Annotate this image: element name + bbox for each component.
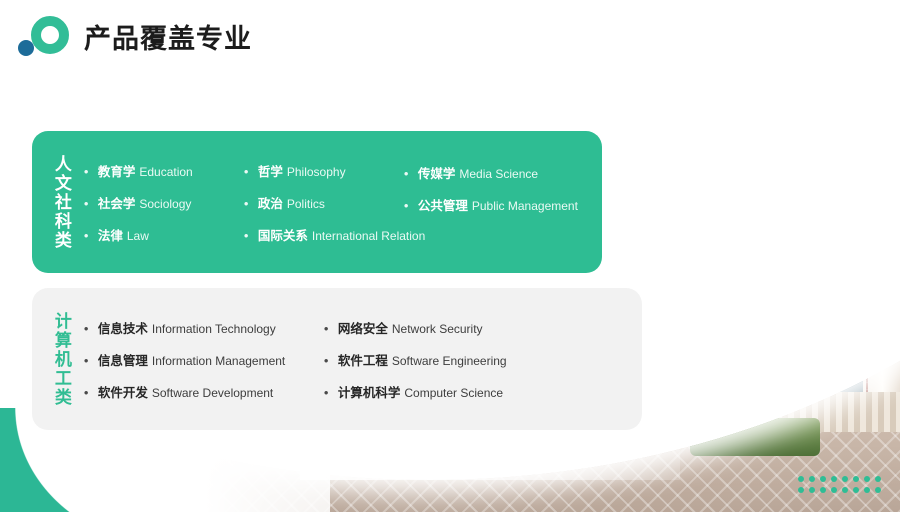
- major-en: Public Management: [472, 199, 578, 213]
- list-item: • 计算机科学 Computer Science: [324, 382, 554, 401]
- major-cn: 网络安全: [338, 318, 388, 337]
- dot: [842, 487, 848, 493]
- major-en: Politics: [287, 197, 325, 211]
- major-en: Media Science: [459, 167, 538, 181]
- bullet-icon: •: [84, 165, 98, 178]
- major-en: Software Engineering: [392, 354, 507, 368]
- bullet-icon: •: [84, 229, 98, 242]
- list-item: • 软件工程 Software Engineering: [324, 350, 554, 369]
- bullet-icon: •: [244, 229, 258, 242]
- major-cn: 哲学: [258, 161, 283, 180]
- column: • 信息技术 Information Technology • 信息管理 Inf…: [84, 318, 324, 401]
- bullet-icon: •: [84, 322, 98, 335]
- major-en: Education: [139, 165, 192, 179]
- list-item: • 社会学 Sociology: [84, 193, 244, 212]
- bullet-icon: •: [404, 167, 418, 180]
- dot-grid-decoration: [798, 476, 886, 498]
- major-en: Software Development: [152, 386, 273, 400]
- major-en: Information Technology: [152, 322, 276, 336]
- dot: [809, 487, 815, 493]
- dot: [864, 487, 870, 493]
- major-cn: 法律: [98, 225, 123, 244]
- bullet-icon: •: [324, 322, 338, 335]
- bullet-icon: •: [244, 197, 258, 210]
- major-en: Computer Science: [404, 386, 503, 400]
- major-cn: 教育学: [98, 161, 136, 180]
- major-cn: 公共管理: [418, 195, 468, 214]
- major-cn: 社会学: [98, 193, 136, 212]
- major-en: Law: [127, 229, 149, 243]
- major-en: Philosophy: [287, 165, 346, 179]
- list-item: • 国际关系 International Relation: [244, 225, 404, 244]
- list-item: • 传媒学 Media Science: [404, 163, 604, 182]
- major-cn: 政治: [258, 193, 283, 212]
- major-cn: 传媒学: [418, 163, 456, 182]
- panel-computer-engineering-columns: • 信息技术 Information Technology • 信息管理 Inf…: [76, 318, 642, 401]
- brand-logo-icon: [18, 14, 70, 58]
- column: • 网络安全 Network Security • 软件工程 Software …: [324, 318, 554, 401]
- list-item: • 法律 Law: [84, 225, 244, 244]
- dot: [853, 476, 859, 482]
- page-title: 产品覆盖专业: [84, 17, 252, 56]
- list-item: • 网络安全 Network Security: [324, 318, 554, 337]
- bullet-icon: •: [84, 354, 98, 367]
- dot: [875, 476, 881, 482]
- bullet-icon: •: [324, 386, 338, 399]
- major-en: Information Management: [152, 354, 285, 368]
- list-item: • 哲学 Philosophy: [244, 161, 404, 180]
- list-item: • 软件开发 Software Development: [84, 382, 324, 401]
- bullet-icon: •: [324, 354, 338, 367]
- dot: [831, 487, 837, 493]
- dot: [875, 487, 881, 493]
- panel-humanities: 人文社科类 • 教育学 Education • 社会学 Sociology • …: [32, 131, 602, 273]
- major-cn: 信息管理: [98, 350, 148, 369]
- list-item: • 信息管理 Information Management: [84, 350, 324, 369]
- column: • 哲学 Philosophy • 政治 Politics • 国际关系 Int…: [244, 161, 404, 244]
- dot: [798, 476, 804, 482]
- major-cn: 计算机科学: [338, 382, 401, 401]
- logo-ring-icon: [31, 16, 69, 54]
- dot: [809, 476, 815, 482]
- panel-humanities-label: 人文社科类: [52, 155, 70, 250]
- list-item: • 教育学 Education: [84, 161, 244, 180]
- panel-computer-engineering-label: 计算机工类: [52, 312, 70, 407]
- slide-canvas: 产品覆盖专业 人文社科类 • 教育学 Education • 社会学 Socio…: [0, 0, 900, 512]
- major-en: Sociology: [139, 197, 191, 211]
- bullet-icon: •: [404, 199, 418, 212]
- major-cn: 国际关系: [258, 225, 308, 244]
- dot: [820, 476, 826, 482]
- dot: [798, 487, 804, 493]
- major-en: Network Security: [392, 322, 483, 336]
- major-cn: 信息技术: [98, 318, 148, 337]
- major-cn: 软件工程: [338, 350, 388, 369]
- slide-header: 产品覆盖专业: [18, 14, 252, 58]
- major-cn: 软件开发: [98, 382, 148, 401]
- dot: [831, 476, 837, 482]
- dot: [842, 476, 848, 482]
- list-item: • 公共管理 Public Management: [404, 195, 604, 214]
- dot: [820, 487, 826, 493]
- panel-computer-engineering: 计算机工类 • 信息技术 Information Technology • 信息…: [32, 288, 642, 430]
- bullet-icon: •: [84, 197, 98, 210]
- bullet-icon: •: [84, 386, 98, 399]
- bullet-icon: •: [244, 165, 258, 178]
- dot: [864, 476, 870, 482]
- list-item: • 信息技术 Information Technology: [84, 318, 324, 337]
- list-item: • 政治 Politics: [244, 193, 404, 212]
- panel-humanities-columns: • 教育学 Education • 社会学 Sociology • 法律 Law: [76, 161, 604, 244]
- column: • 教育学 Education • 社会学 Sociology • 法律 Law: [84, 161, 244, 244]
- column: • 传媒学 Media Science • 公共管理 Public Manage…: [404, 161, 604, 244]
- dot: [853, 487, 859, 493]
